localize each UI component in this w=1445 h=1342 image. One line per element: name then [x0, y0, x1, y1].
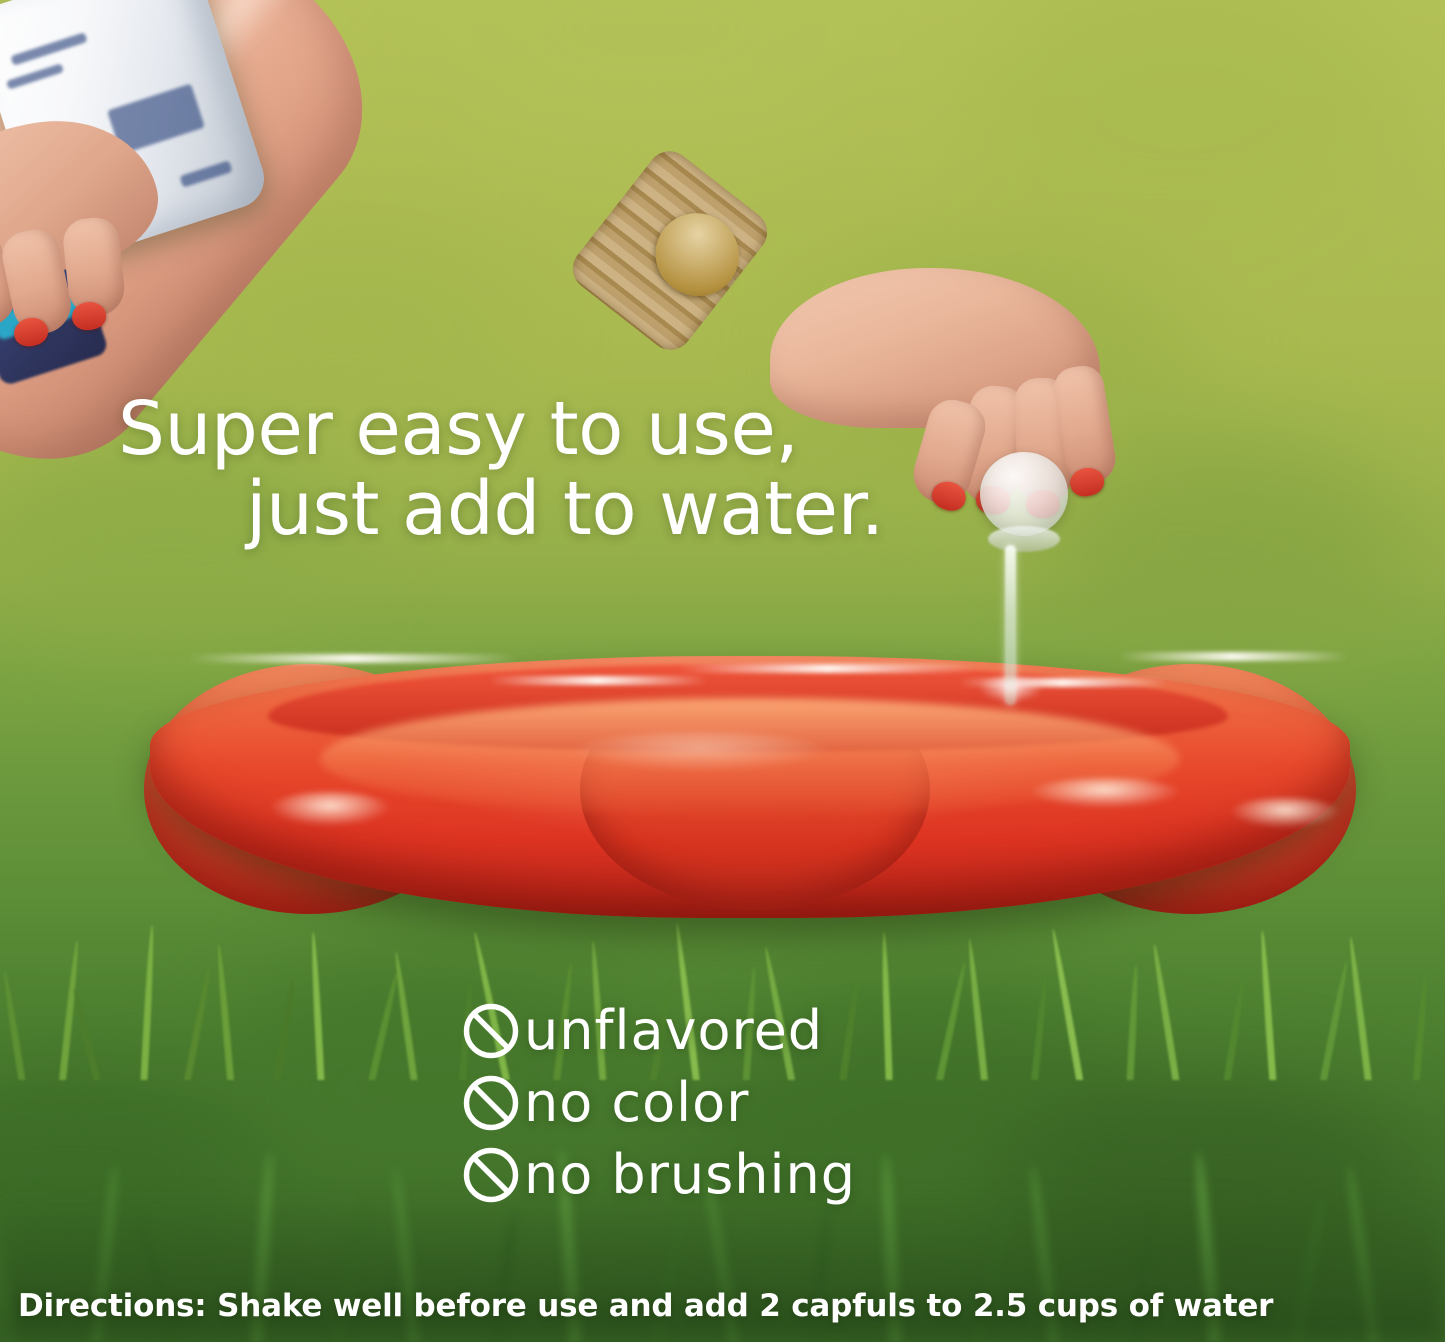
- headline: Super easy to use, just add to water.: [0, 390, 920, 550]
- list-item: no color: [462, 1067, 1162, 1139]
- prohibition-icon: [462, 1002, 520, 1060]
- bottle-holding-hand: [0, 122, 186, 352]
- benefit-label: no brushing: [524, 1148, 856, 1202]
- bowl-gloss-4: [570, 732, 830, 772]
- headline-line-2: just add to water.: [0, 470, 920, 550]
- measuring-cap-lip: [988, 526, 1060, 552]
- benefit-label: no color: [524, 1076, 749, 1130]
- benefit-label: unflavored: [524, 1004, 823, 1058]
- wrist-watch: [564, 142, 776, 358]
- list-item: unflavored: [462, 995, 1162, 1067]
- product-bottle: [0, 0, 306, 402]
- prohibition-icon: [462, 1074, 520, 1132]
- prohibition-icon: [462, 1146, 520, 1204]
- measuring-cap: [980, 452, 1068, 536]
- product-infographic-image: Super easy to use, just add to water. un…: [0, 0, 1445, 1342]
- bowl-gloss-3: [1230, 798, 1340, 828]
- bowl-gloss-1: [270, 792, 390, 826]
- dog-bowl: [150, 612, 1350, 942]
- directions-text: Directions: Shake well before use and ad…: [18, 1288, 1438, 1324]
- benefit-list: unflavored no color no brushing: [462, 995, 1162, 1211]
- bowl-gloss-2: [1030, 778, 1180, 808]
- water-splash: [978, 676, 1044, 702]
- list-item: no brushing: [462, 1139, 1162, 1211]
- headline-line-1: Super easy to use,: [0, 390, 920, 470]
